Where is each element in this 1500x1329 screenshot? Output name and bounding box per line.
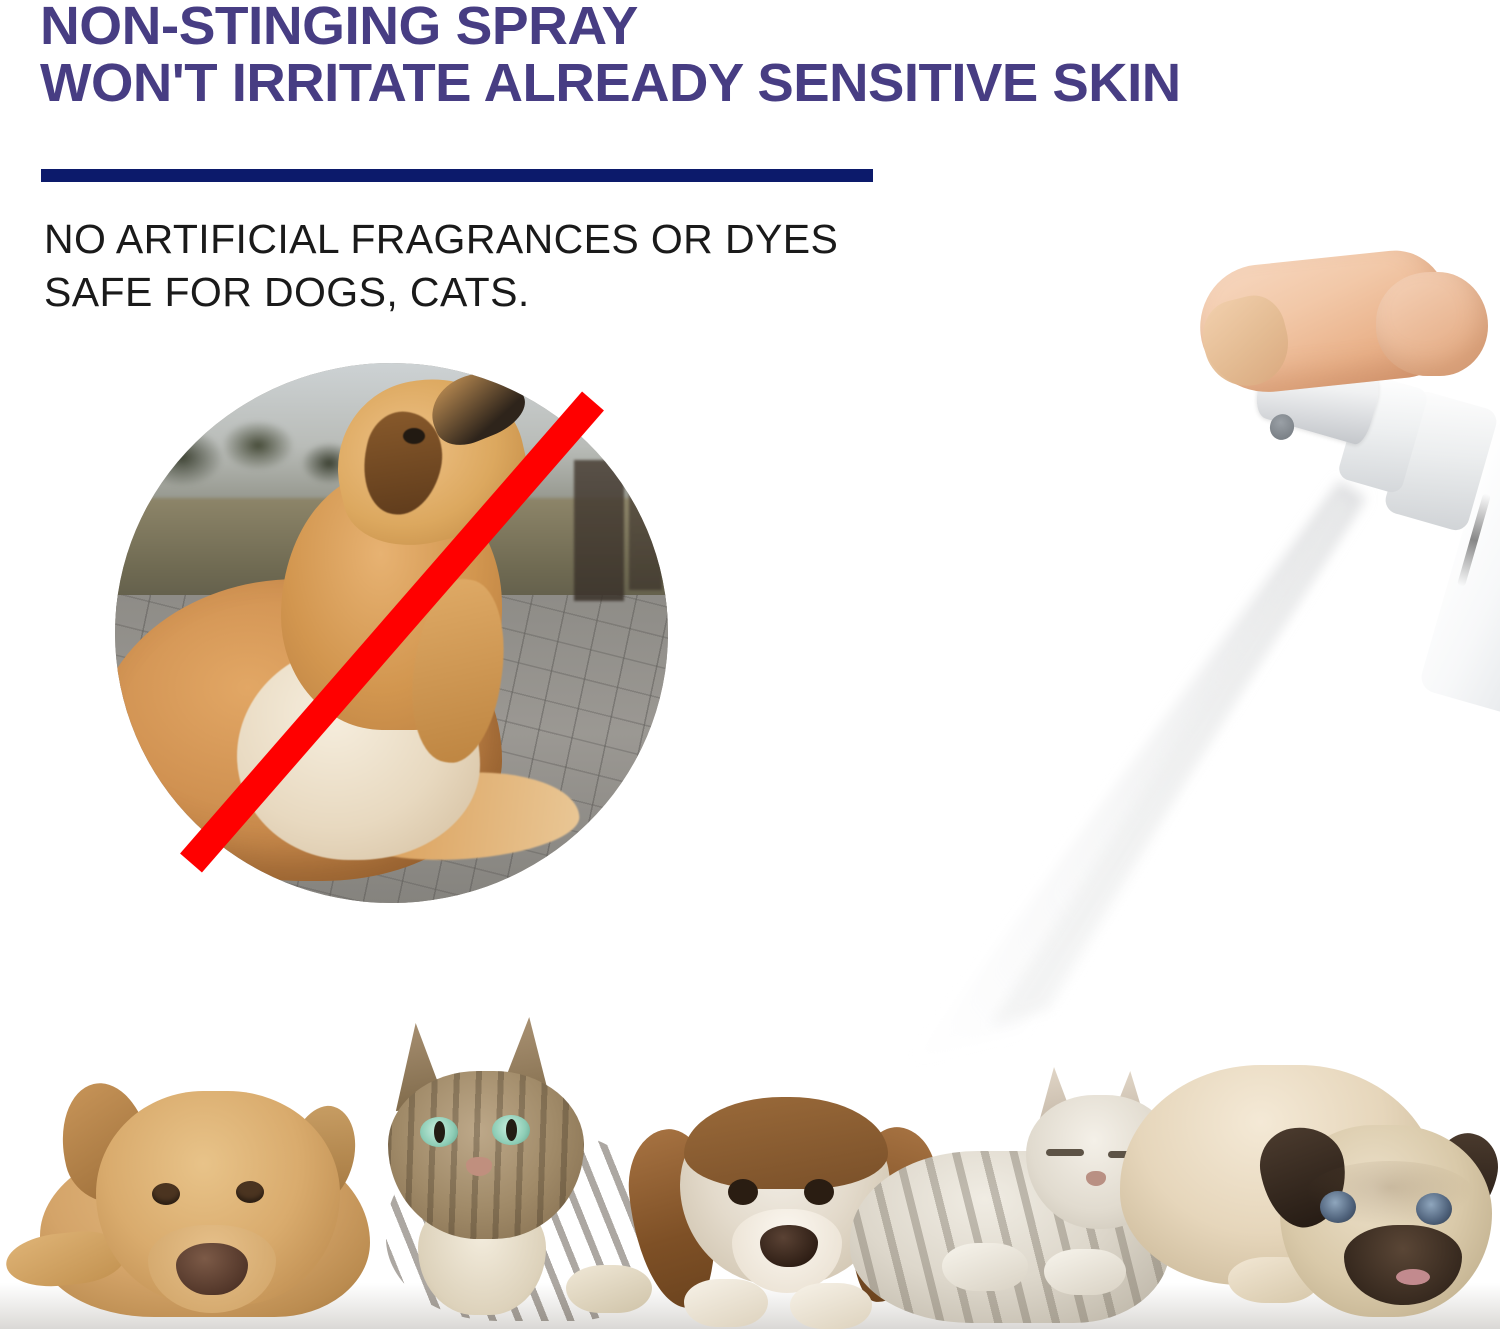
silver-cat-eye-left xyxy=(1046,1149,1084,1156)
tan-dog-eye-right xyxy=(236,1181,264,1203)
subtitle-line-2: SAFE FOR DOGS, CATS. xyxy=(44,266,944,319)
scratching-dog-eye xyxy=(403,428,425,444)
tabby-cat-pupil-left xyxy=(434,1121,445,1143)
photo-fence-post-2 xyxy=(629,471,662,590)
headline-line-2: WON'T IRRITATE ALREADY SENSITIVE SKIN xyxy=(40,55,1484,112)
pug-dog xyxy=(1120,1053,1492,1329)
beagle-paw-left xyxy=(684,1279,768,1327)
pug-eye-left xyxy=(1320,1191,1356,1223)
pug-eye-right xyxy=(1416,1193,1452,1225)
pug-tongue xyxy=(1396,1269,1430,1285)
beagle-eye-left xyxy=(728,1179,758,1205)
subtitle-line-1: NO ARTIFICIAL FRAGRANCES OR DYES xyxy=(44,213,944,266)
headline: NON-STINGING SPRAY WON'T IRRITATE ALREAD… xyxy=(40,0,1470,112)
white-pump-spray-bottle xyxy=(1180,240,1500,700)
tabby-cat-head-stripes xyxy=(388,1071,584,1239)
tabby-cat-pupil-right xyxy=(506,1119,517,1141)
divider-rule xyxy=(41,169,873,182)
subtitle: NO ARTIFICIAL FRAGRANCES OR DYES SAFE FO… xyxy=(44,213,944,320)
photo-fence-post-1 xyxy=(574,460,624,600)
finger-knuckle xyxy=(1376,272,1488,376)
product-infographic: NON-STINGING SPRAY WON'T IRRITATE ALREAD… xyxy=(0,0,1500,1329)
tan-dog-eye-left xyxy=(152,1183,180,1205)
brown-tabby-cat xyxy=(340,1015,666,1327)
silver-cat-paw-right xyxy=(1044,1249,1126,1295)
circular-scratching-dog-photo xyxy=(115,363,668,903)
headline-line-1: NON-STINGING SPRAY xyxy=(40,0,1499,55)
pet-group-photo xyxy=(0,1005,1500,1329)
silver-cat-paw-left xyxy=(942,1243,1028,1291)
beagle-eye-right xyxy=(804,1179,834,1205)
